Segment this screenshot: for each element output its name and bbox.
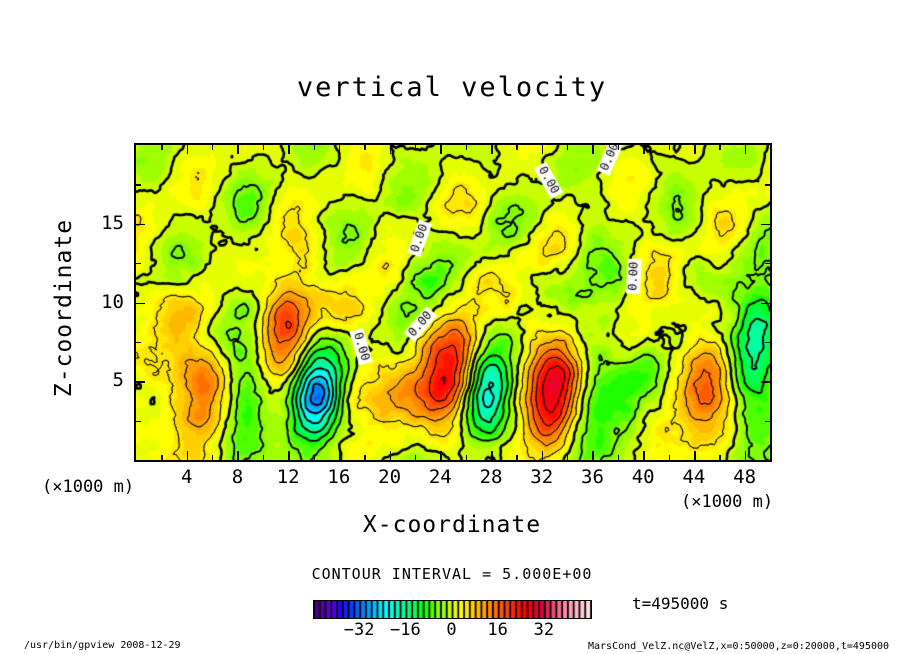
tick-mark <box>339 145 341 154</box>
tick-mark <box>761 303 770 305</box>
tick-mark <box>136 224 145 226</box>
tick-mark <box>542 145 544 154</box>
tick-mark <box>719 145 720 150</box>
footer-command: /usr/bin/gpview 2008-12-29 <box>24 640 181 651</box>
tick-mark <box>770 455 771 460</box>
tick-mark <box>288 145 290 154</box>
tick-mark <box>390 451 392 460</box>
contour-plot-area <box>134 143 772 462</box>
tick-mark <box>212 455 213 460</box>
tick-mark <box>161 145 162 150</box>
colorbar-tick-label: 32 <box>514 620 574 640</box>
tick-mark <box>761 381 770 383</box>
tick-mark <box>364 145 365 150</box>
tick-mark <box>694 145 696 154</box>
tick-mark <box>567 455 568 460</box>
tick-mark <box>719 455 720 460</box>
tick-mark <box>669 455 670 460</box>
colorbar <box>313 600 592 619</box>
tick-mark <box>339 451 341 460</box>
tick-mark <box>618 145 619 150</box>
tick-mark <box>136 184 141 185</box>
tick-mark <box>567 145 568 150</box>
tick-mark <box>136 342 141 343</box>
tick-mark <box>237 451 239 460</box>
tick-mark <box>761 224 770 226</box>
tick-mark <box>516 145 517 150</box>
tick-mark <box>618 455 619 460</box>
tick-mark <box>415 145 416 150</box>
tick-mark <box>237 145 239 154</box>
tick-mark <box>466 145 467 150</box>
tick-mark <box>136 303 145 305</box>
tick-mark <box>288 451 290 460</box>
time-label: t=495000 s <box>632 594 728 613</box>
tick-mark <box>212 145 213 150</box>
tick-mark <box>765 421 770 422</box>
tick-mark <box>263 145 264 150</box>
tick-mark <box>187 145 189 154</box>
tick-mark <box>643 451 645 460</box>
footer-dataset: MarsCond_VelZ.nc@VelZ,x=0:50000,z=0:2000… <box>588 641 889 652</box>
tick-mark <box>516 455 517 460</box>
tick-mark <box>770 145 771 150</box>
tick-mark <box>440 145 442 154</box>
contour-interval-label: CONTOUR INTERVAL = 5.000E+00 <box>0 565 904 583</box>
tick-mark <box>491 145 493 154</box>
tick-mark <box>415 455 416 460</box>
tick-mark <box>765 263 770 264</box>
x-axis-tick-label: 48 <box>715 466 775 488</box>
tick-mark <box>491 451 493 460</box>
tick-mark <box>745 451 747 460</box>
tick-mark <box>136 421 141 422</box>
tick-mark <box>694 451 696 460</box>
tick-mark <box>592 145 594 154</box>
tick-mark <box>466 455 467 460</box>
y-axis-label: Z-coordinate <box>51 208 77 408</box>
tick-mark <box>314 455 315 460</box>
tick-mark <box>765 342 770 343</box>
tick-mark <box>669 145 670 150</box>
x-axis-label: X-coordinate <box>0 512 904 538</box>
tick-mark <box>161 455 162 460</box>
tick-mark <box>136 263 141 264</box>
tick-mark <box>136 381 145 383</box>
tick-mark <box>314 145 315 150</box>
colorbar-gradient <box>314 601 591 618</box>
tick-mark <box>592 451 594 460</box>
tick-mark <box>440 451 442 460</box>
y-axis-unit: (×1000 m) <box>42 477 134 497</box>
tick-mark <box>765 184 770 185</box>
vertical-velocity-field <box>136 145 770 460</box>
x-axis-unit: (×1000 m) <box>681 492 773 512</box>
tick-mark <box>643 145 645 154</box>
tick-mark <box>364 455 365 460</box>
tick-mark <box>390 145 392 154</box>
tick-mark <box>542 451 544 460</box>
tick-mark <box>187 451 189 460</box>
tick-mark <box>263 455 264 460</box>
chart-title: vertical velocity <box>0 72 904 103</box>
tick-mark <box>745 145 747 154</box>
